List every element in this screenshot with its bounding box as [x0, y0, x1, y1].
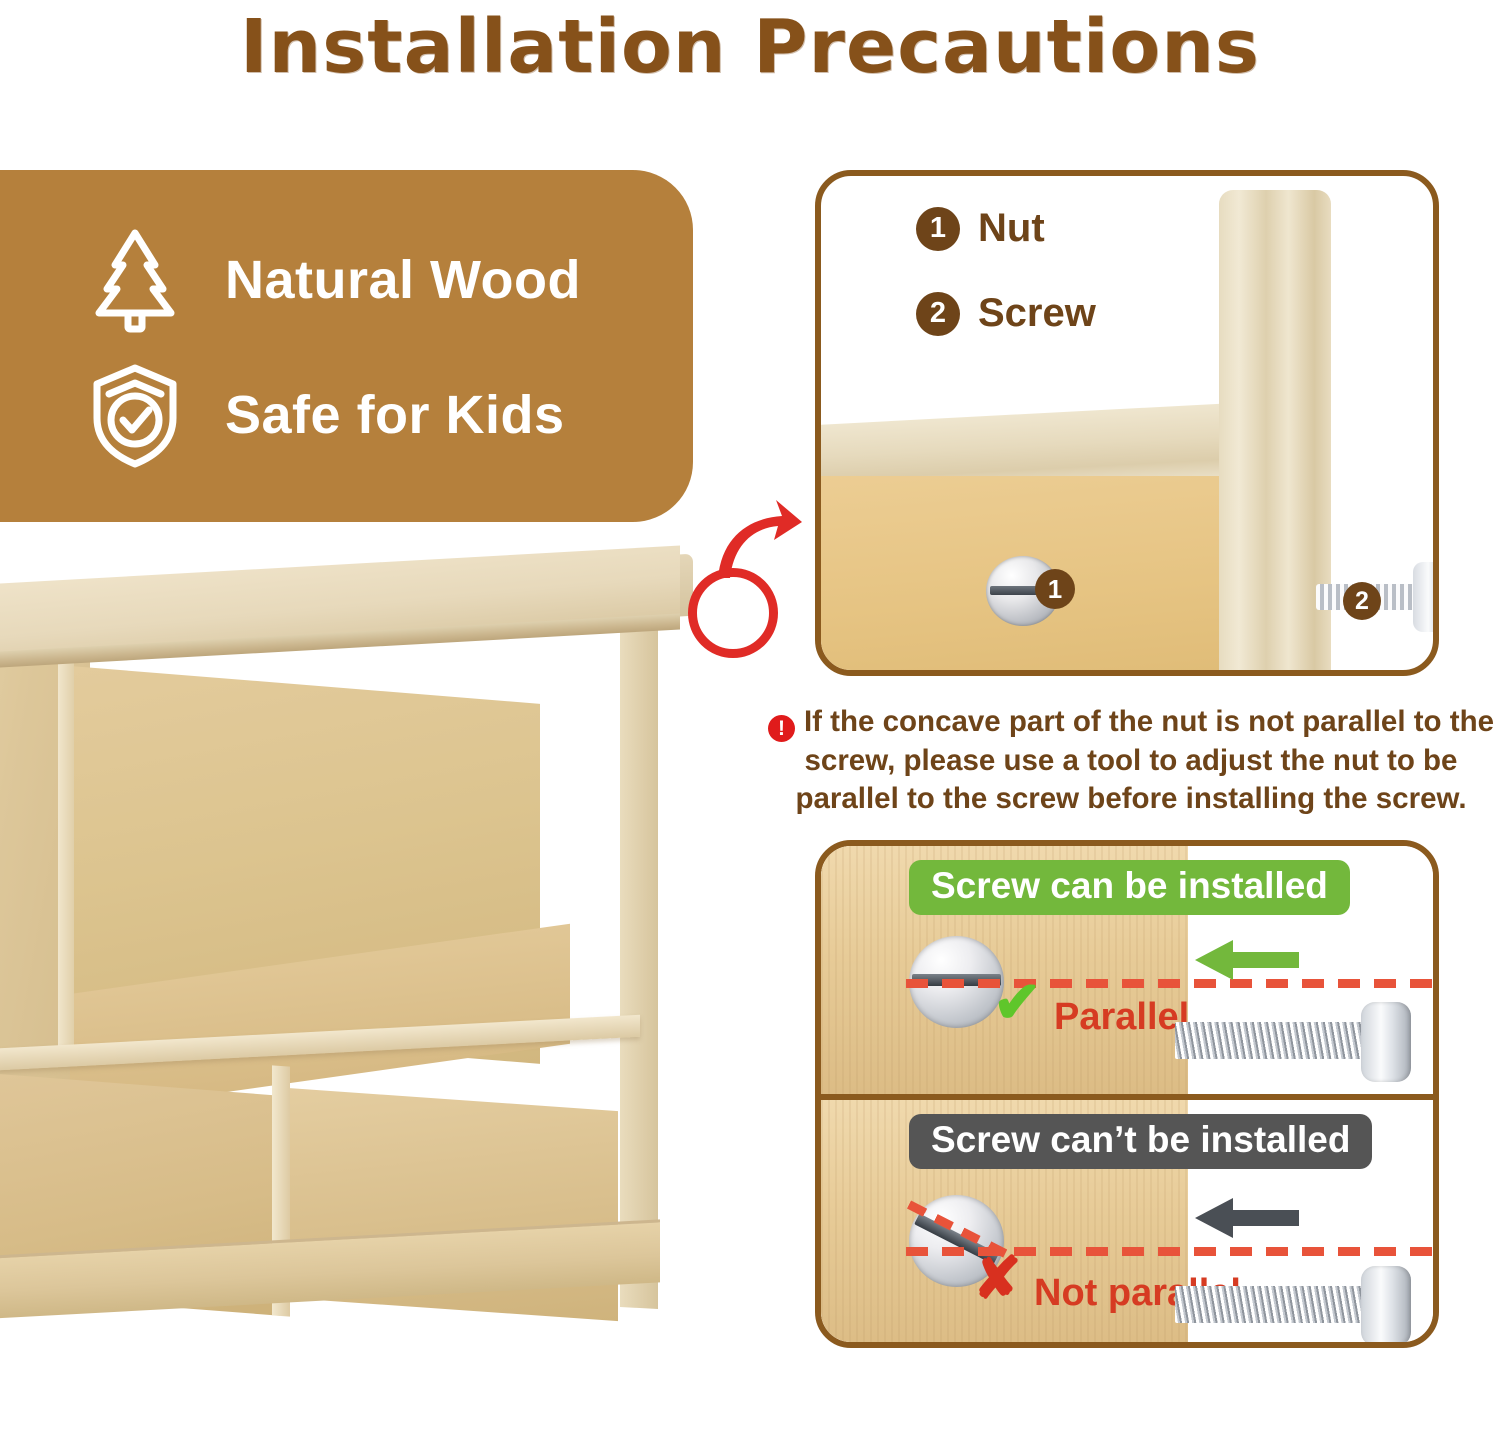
- callout-badge-screw: 2: [1343, 582, 1381, 620]
- parallel-comparison-panel: ✔ Parallel Screw can be installed ✘ Not …: [815, 840, 1439, 1348]
- cabinet-vertical-divider: [58, 659, 74, 1065]
- comparison-screw-parallel: [1175, 1014, 1415, 1066]
- callout-badge-nut: 1: [1035, 569, 1075, 609]
- comparison-screw-not-parallel: [1175, 1278, 1415, 1330]
- feature-label: Natural Wood: [225, 249, 581, 311]
- parallel-label: Parallel: [1054, 996, 1189, 1039]
- check-icon: ✔: [993, 974, 1042, 1032]
- direction-arrow-green-icon: [1191, 938, 1301, 987]
- product-photo: [0, 548, 760, 1338]
- comparison-row-cannot-install: ✘ Not parallel Screw can’t be installed: [821, 1094, 1433, 1348]
- warning-note: !If the concave part of the nut is not p…: [766, 703, 1496, 819]
- feature-item-safe-for-kids: Safe for Kids: [85, 360, 565, 470]
- curved-arrow-up-right-icon: [712, 492, 804, 584]
- comparison-row-can-install: ✔ Parallel Screw can be installed: [821, 846, 1433, 1094]
- banner-cannot-install: Screw can’t be installed: [909, 1114, 1372, 1169]
- exclamation-circle-icon: !: [768, 715, 795, 742]
- screw-shaft: [1175, 1286, 1370, 1323]
- banner-can-install: Screw can be installed: [909, 860, 1350, 915]
- direction-arrow-gray-icon: [1191, 1196, 1301, 1245]
- legend-label-nut: Nut: [978, 206, 1045, 251]
- alignment-dashed-line: [906, 979, 1433, 988]
- legend-label-screw: Screw: [978, 291, 1096, 336]
- pine-tree-icon: [85, 225, 185, 335]
- detail-screw-head: [1413, 562, 1439, 632]
- screw-shaft: [1175, 1022, 1370, 1059]
- legend-item-nut: 1 Nut: [916, 206, 1045, 251]
- detail-vertical-post: [1219, 190, 1331, 676]
- legend-badge-2: 2: [916, 292, 960, 336]
- shield-check-icon: [85, 360, 185, 470]
- feature-badge-panel: Natural Wood Safe for Kids: [0, 170, 693, 522]
- legend-badge-1: 1: [916, 207, 960, 251]
- warning-text: If the concave part of the nut is not pa…: [795, 705, 1494, 815]
- legend-item-screw: 2 Screw: [916, 291, 1096, 336]
- nut-screw-detail-panel: 1 2 1 Nut 2 Screw: [815, 170, 1439, 676]
- page-title: Installation Precautions: [0, 4, 1500, 90]
- screw-head: [1361, 1002, 1411, 1082]
- cross-icon: ✘: [973, 1250, 1022, 1308]
- feature-label: Safe for Kids: [225, 384, 565, 446]
- screw-head: [1361, 1266, 1411, 1346]
- cabinet-right-panel: [620, 607, 658, 1309]
- feature-item-natural-wood: Natural Wood: [85, 225, 581, 335]
